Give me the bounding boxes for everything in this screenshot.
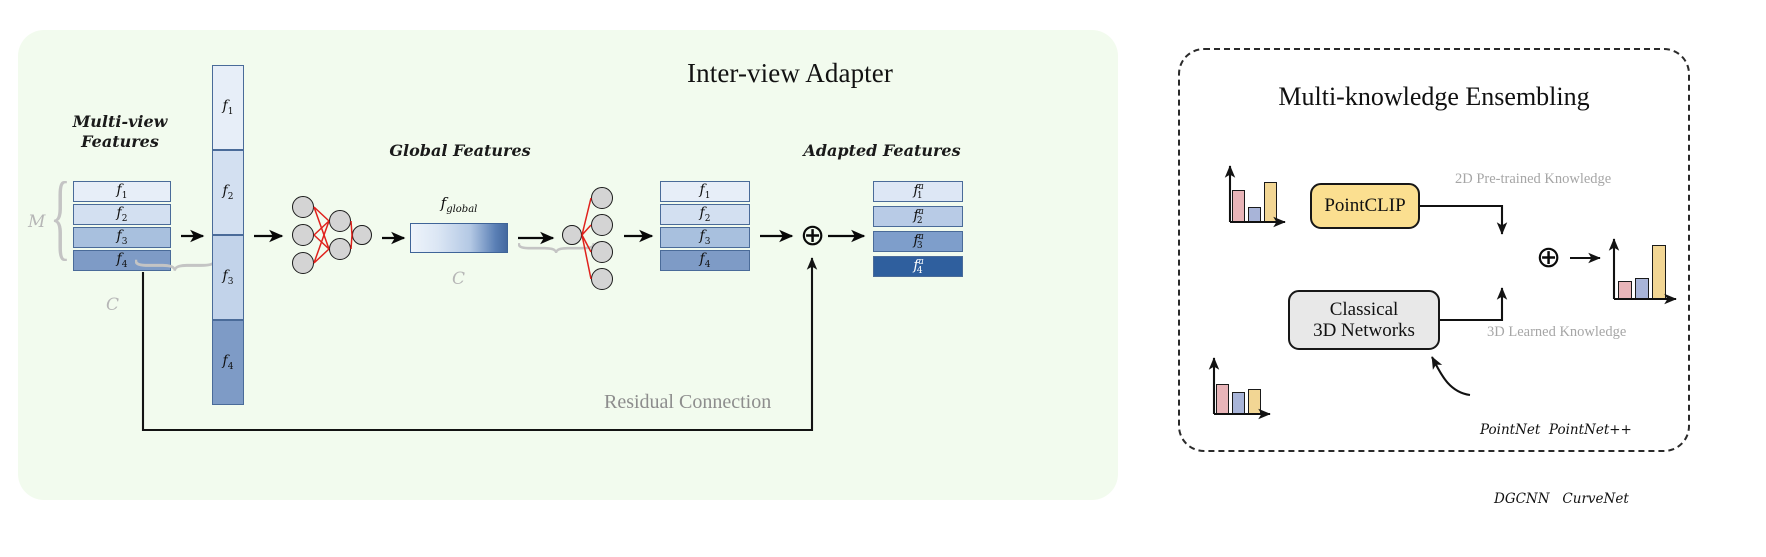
row-dimension-brace: {	[50, 170, 71, 261]
multiview-caption: Multi-view Features	[40, 112, 200, 152]
intermediate-block-4-label: f4	[700, 251, 711, 270]
mlp-encoder-node-4	[329, 210, 351, 232]
concat-block-1-label: f1	[223, 98, 234, 117]
pointclip-label: PointCLIP	[1324, 195, 1405, 216]
global-dimension-label: C	[452, 269, 465, 289]
adapted-block-1-label: fa1	[913, 182, 922, 201]
intermediate-block-3: f3	[660, 227, 750, 248]
bar-2-2	[1652, 245, 1666, 299]
concat-block-2-label: f2	[223, 183, 234, 202]
residual-connection-label: Residual Connection	[604, 391, 771, 414]
intermediate-block-4: f4	[660, 250, 750, 271]
mlp-encoder-node-1	[292, 196, 314, 218]
bar-1-0	[1216, 384, 1229, 414]
diagram-canvas: Inter-view Adapter Multi-view Features f…	[0, 0, 1766, 550]
intermediate-block-1-label: f1	[700, 182, 711, 201]
adapted-block-4: fa4	[873, 256, 963, 277]
adapted-block-2: fa2	[873, 206, 963, 227]
multiview-block-3: f3	[73, 227, 171, 248]
knowledge-2d-label: 2D Pre-trained Knowledge	[1455, 171, 1611, 188]
multiview-block-1: f1	[73, 181, 171, 202]
multiview-block-2-label: f2	[117, 205, 128, 224]
bar-0-1	[1248, 207, 1261, 222]
bar-1-2	[1248, 389, 1261, 414]
multiview-caption-line1: Multi-view	[40, 112, 200, 132]
mlp-encoder-node-5	[329, 238, 351, 260]
bar-1-1	[1232, 392, 1245, 414]
multiview-caption-line2: Features	[40, 132, 200, 152]
row-dimension-label: M	[28, 212, 45, 232]
col-dimension-label: C	[106, 295, 119, 315]
right-panel-title: Multi-knowledge Ensembling	[1178, 82, 1690, 112]
bar-2-0	[1618, 281, 1632, 299]
ensemble-add-symbol: ⊕	[1536, 243, 1561, 273]
adapted-block-2-label: fa2	[913, 207, 922, 226]
mlp-encoder-node-3	[292, 252, 314, 274]
chart-classical-input	[1212, 362, 1264, 414]
concat-block-4: f4	[212, 320, 244, 405]
bar-0-2	[1264, 182, 1277, 222]
classical-label-line2: 3D Networks	[1313, 320, 1415, 341]
global-dimension-brace: {	[508, 240, 595, 256]
chart-pointclip-input	[1228, 170, 1280, 222]
adapted-features-caption: Adapted Features	[782, 141, 982, 161]
multiview-block-3-label: f3	[117, 228, 128, 247]
concat-block-3-label: f3	[223, 268, 234, 287]
mlp-encoder-node-out	[352, 225, 372, 245]
concat-block-1: f1	[212, 65, 244, 150]
network-names: PointNet PointNet++ DGCNN CurveNet	[1480, 373, 1632, 557]
page-title: Inter-view Adapter	[660, 58, 920, 89]
bar-0-0	[1232, 190, 1245, 222]
mlp-decoder-node-3	[591, 241, 613, 263]
mlp-encoder-node-2	[292, 224, 314, 246]
adapted-block-1: fa1	[873, 181, 963, 202]
adapted-block-4-label: fa4	[913, 257, 922, 276]
network-names-line2: DGCNN CurveNet	[1480, 488, 1632, 511]
global-feature-vector-label: fglobal	[410, 194, 508, 215]
network-names-line1: PointNet PointNet++	[1480, 419, 1632, 442]
col-dimension-brace: {	[124, 256, 215, 274]
concat-block-3: f3	[212, 235, 244, 320]
residual-add-symbol: ⊕	[800, 221, 825, 251]
concat-block-4-label: f4	[223, 353, 234, 372]
adapted-block-3-label: fa3	[913, 232, 922, 251]
global-features-caption: Global Features	[360, 141, 560, 161]
pointclip-box[interactable]: PointCLIP	[1310, 183, 1420, 229]
mlp-decoder-node-1	[591, 187, 613, 209]
intermediate-block-2-label: f2	[700, 205, 711, 224]
global-feature-vector	[410, 223, 508, 253]
classical-label-line1: Classical	[1330, 299, 1399, 320]
concat-block-2: f2	[212, 150, 244, 235]
chart-ensembled-output	[1612, 243, 1670, 299]
intermediate-block-3-label: f3	[700, 228, 711, 247]
mlp-decoder-node-4	[591, 268, 613, 290]
mlp-decoder-node-in	[562, 225, 582, 245]
multiview-block-1-label: f1	[117, 182, 128, 201]
knowledge-3d-label: 3D Learned Knowledge	[1487, 324, 1626, 341]
mlp-decoder-node-2	[591, 214, 613, 236]
multiview-block-2: f2	[73, 204, 171, 225]
classical-3d-networks-box[interactable]: Classical 3D Networks	[1288, 290, 1440, 350]
adapted-block-3: fa3	[873, 231, 963, 252]
intermediate-block-2: f2	[660, 204, 750, 225]
bar-2-1	[1635, 278, 1649, 299]
intermediate-block-1: f1	[660, 181, 750, 202]
